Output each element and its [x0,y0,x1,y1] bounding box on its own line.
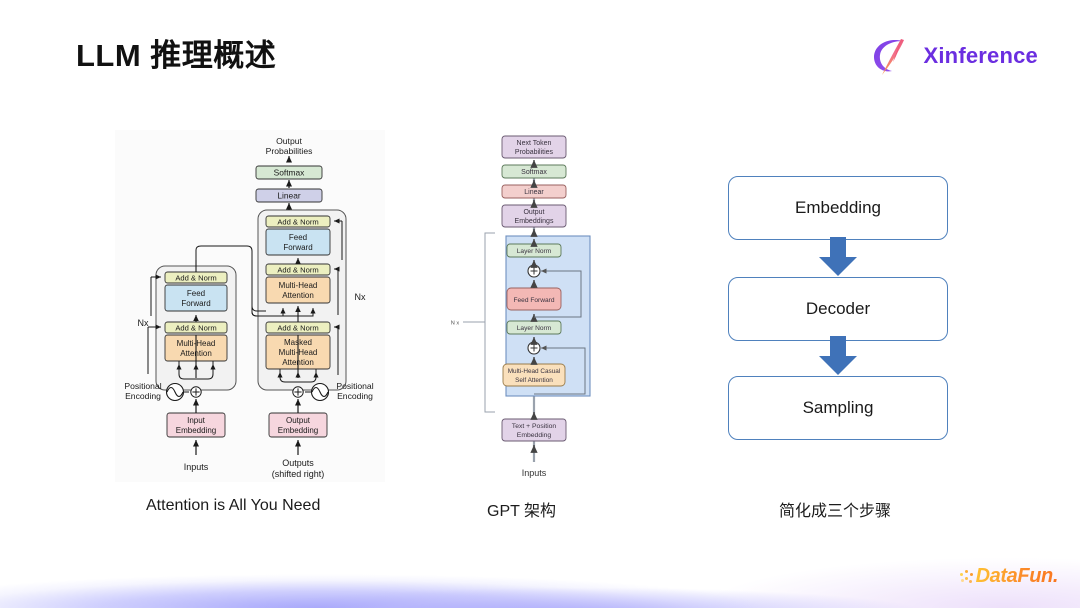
svg-text:Embedding: Embedding [176,426,216,435]
decoder-nx-label: Nx [355,292,366,302]
figure-gpt: N x Next Token Probabilities Softmax Lin… [445,132,605,482]
svg-text:Input: Input [187,416,206,425]
svg-text:Inputs: Inputs [184,462,209,472]
datafun-dots-icon [960,568,974,586]
down-arrow-icon-1 [816,237,860,277]
svg-text:Add & Norm: Add & Norm [277,265,318,274]
footer-logo-text: DataFun. [976,565,1058,588]
flow-box-decoder[interactable]: Decoder [728,277,948,341]
svg-text:Embedding: Embedding [517,432,552,439]
brand-logo: Xinference [870,36,1039,76]
svg-text:Embeddings: Embeddings [515,218,554,225]
svg-text:(shifted right): (shifted right) [272,469,325,479]
svg-text:Feed: Feed [187,289,205,298]
svg-text:Multi-Head: Multi-Head [279,281,318,290]
svg-text:Output: Output [286,416,311,425]
footer-logo: DataFun. [960,565,1058,588]
svg-text:Embedding: Embedding [278,426,318,435]
svg-text:Add & Norm: Add & Norm [277,323,318,332]
caption-transformer: Attention is All You Need [146,497,320,515]
svg-text:Text + Position: Text + Position [512,423,557,430]
page-title: LLM 推理概述 [76,30,276,75]
svg-text:Next Token: Next Token [517,140,552,147]
svg-text:Outputs: Outputs [282,458,314,468]
flow-box-embedding[interactable]: Embedding [728,176,948,240]
caption-three-steps: 简化成三个步骤 [779,497,891,521]
svg-text:Forward: Forward [283,243,312,252]
svg-text:Layer Norm: Layer Norm [517,325,552,332]
svg-text:Linear: Linear [524,189,544,196]
svg-text:Inputs: Inputs [522,468,547,478]
svg-text:Positional: Positional [336,381,373,391]
svg-text:Add & Norm: Add & Norm [277,217,318,226]
bottom-wave-decoration [0,528,1080,608]
svg-text:Forward: Forward [181,299,210,308]
gpt-nx-label: N x [451,321,460,327]
flow-box-decoder-label: Decoder [806,299,870,319]
svg-text:Probabilities: Probabilities [515,149,554,156]
flow-box-sampling-label: Sampling [803,398,874,418]
svg-text:Attention: Attention [282,291,314,300]
svg-text:Softmax: Softmax [274,167,306,177]
down-arrow-icon-2 [816,336,860,376]
svg-text:Encoding: Encoding [125,391,161,401]
slide: LLM 推理概述 Xinfe [0,0,1080,608]
figure-three-steps: Embedding Decoder Sampling [728,176,948,428]
wave-blue-layer [0,552,1020,608]
svg-text:Layer Norm: Layer Norm [517,248,552,255]
encoder-nx-label: Nx [138,318,149,328]
svg-text:Multi-Head Casual: Multi-Head Casual [508,368,561,375]
svg-text:Feed Forward: Feed Forward [513,297,554,304]
svg-text:Softmax: Softmax [521,169,547,176]
wave-blue-layer-2 [180,564,1060,608]
svg-text:Encoding: Encoding [337,391,373,401]
svg-text:Output: Output [523,209,544,216]
svg-text:Add & Norm: Add & Norm [175,323,216,332]
flow-box-sampling[interactable]: Sampling [728,376,948,440]
svg-text:Output: Output [276,136,302,146]
brand-name: Xinference [924,43,1039,69]
xinference-comet-icon [870,36,918,76]
svg-text:Add & Norm: Add & Norm [175,273,216,282]
svg-text:Probabilities: Probabilities [266,146,313,156]
svg-text:Linear: Linear [277,190,300,200]
svg-text:Self Attention: Self Attention [515,377,553,384]
flow-box-embedding-label: Embedding [795,198,881,218]
figure-transformer: Output Probabilities Softmax Linear Add … [115,130,385,482]
caption-gpt: GPT 架构 [487,497,556,521]
svg-text:Feed: Feed [289,233,307,242]
svg-text:Positional: Positional [124,381,161,391]
